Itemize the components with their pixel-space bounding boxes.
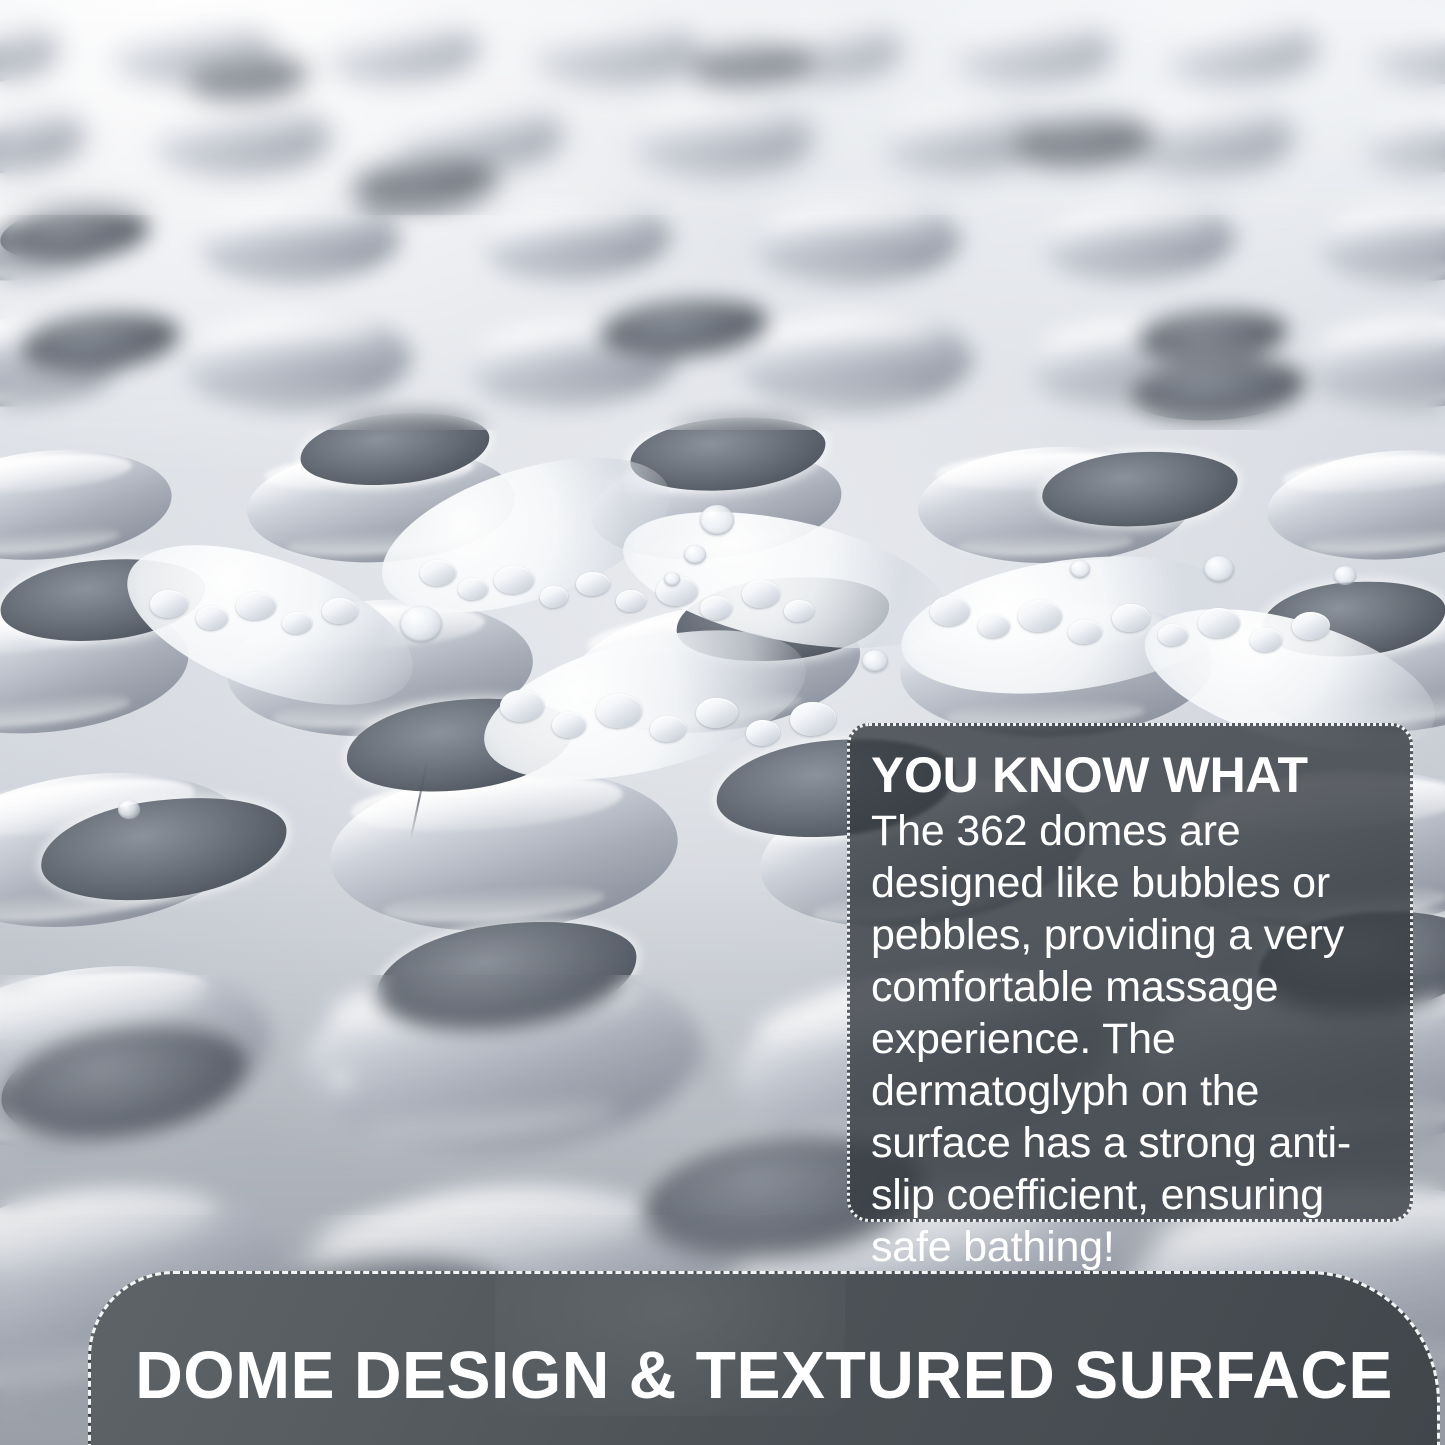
water-droplet [118,800,140,819]
water-droplet [1334,566,1356,585]
water-droplet [400,606,442,642]
water-droplet [664,572,680,586]
water-droplet [1204,556,1234,582]
info-card-heading: YOU KNOW WHAT [871,750,1390,801]
feature-banner: DOME DESIGN & TEXTURED SURFACE [88,1271,1440,1445]
water-droplet [862,650,888,672]
water-droplet [700,505,734,535]
banner-title: DOME DESIGN & TEXTURED SURFACE [101,1342,1427,1409]
info-callout-card: YOU KNOW WHAT The 362 domes are designed… [847,723,1413,1222]
info-card-body: The 362 domes are designed like bubbles … [871,805,1390,1273]
water-droplet [330,1072,356,1094]
water-droplet [1070,560,1090,578]
dome-row-mid-far [0,188,1445,296]
water-droplet [684,545,706,564]
product-feature-image: YOU KNOW WHAT The 362 domes are designed… [0,0,1445,1445]
dome-row-far-2 [0,92,1445,188]
